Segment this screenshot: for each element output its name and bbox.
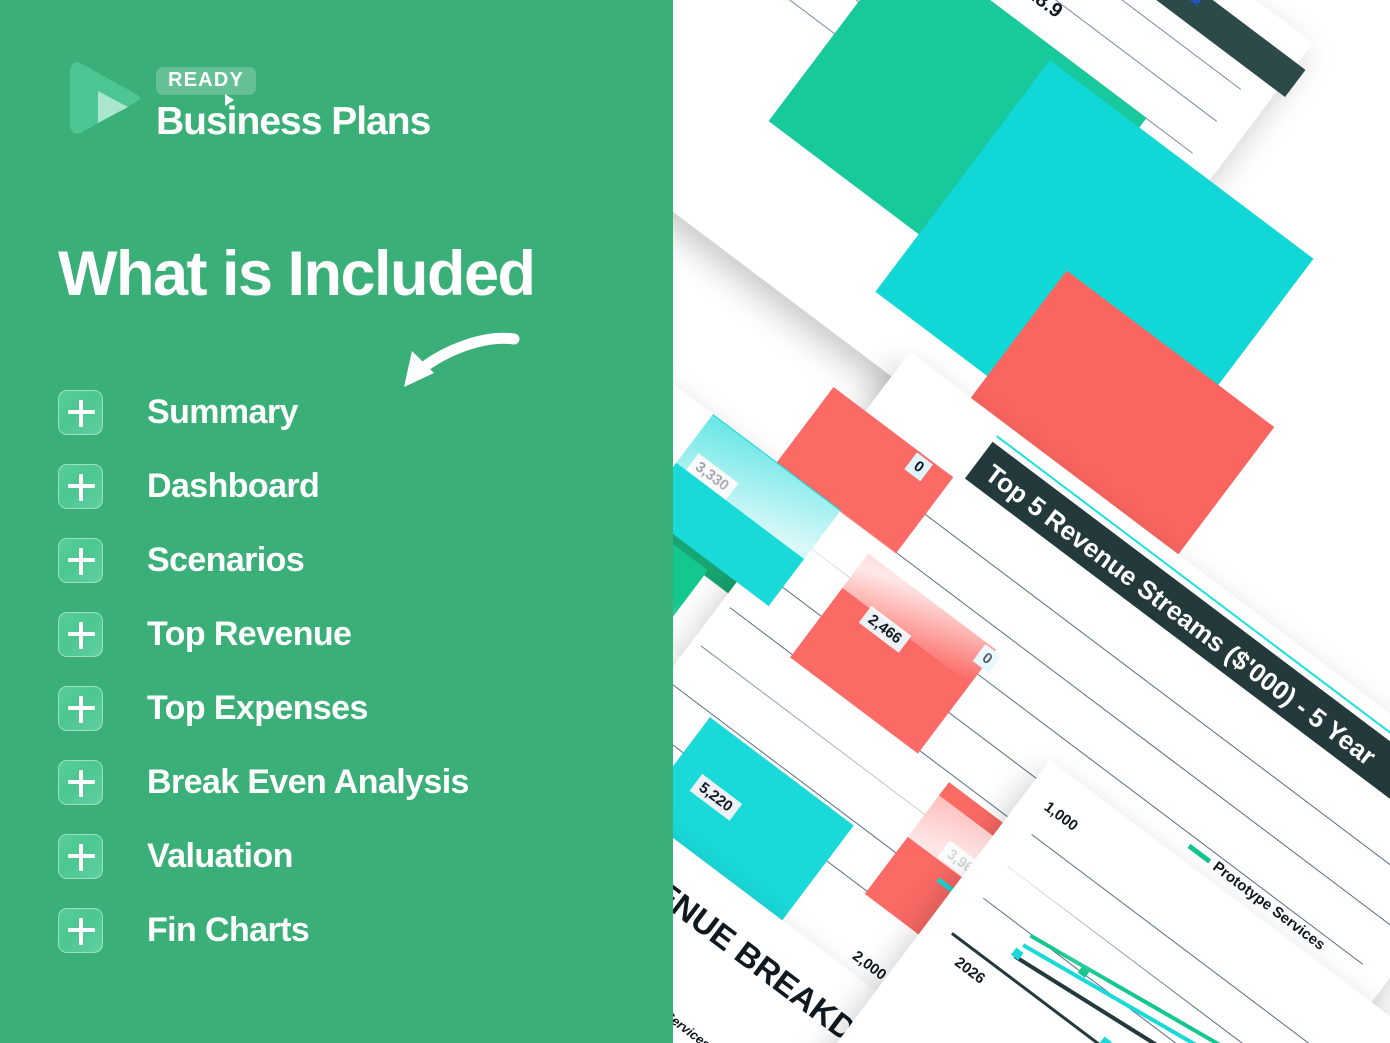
feature-label: Top Revenue [147,615,351,654]
document-title-page: Name of Contents 128.9 [620,0,1313,458]
brand-text-block: READY Business Plans [156,67,430,141]
left-green-panel: READY Business Plans What is Included Su… [0,0,673,1043]
feature-label: Fin Charts [147,911,309,950]
feature-item-valuation[interactable]: Valuation [58,830,638,882]
feature-label: Summary [147,393,298,432]
feature-item-top-revenue[interactable]: Top Revenue [58,608,638,660]
feature-item-fin-charts[interactable]: Fin Charts [58,904,638,956]
brand-name: Business Plans [156,102,430,141]
feature-item-top-expenses[interactable]: Top Expenses [58,682,638,734]
feature-label: Break Even Analysis [147,763,469,802]
feature-item-scenarios[interactable]: Scenarios [58,534,638,586]
ready-badge: READY [156,67,256,95]
feature-label: Dashboard [147,467,319,506]
line-series-dark [1014,955,1287,1043]
plus-icon [58,834,103,879]
feature-item-break-even-analysis[interactable]: Break Even Analysis [58,756,638,808]
brand-name-text: Business Plans [156,100,430,143]
plus-icon [58,686,103,731]
included-features-list: Summary Dashboard Scenarios Top Revenue … [58,386,638,978]
data-point-marker [1099,1037,1112,1043]
feature-label: Scenarios [147,541,304,580]
axis-tick: 1,000 [1041,798,1081,834]
plus-icon [58,390,103,435]
feature-item-summary[interactable]: Summary [58,386,638,438]
plus-icon [58,538,103,583]
plus-icon [58,464,103,509]
feature-label: Top Expenses [147,689,368,728]
plus-icon [58,612,103,657]
plus-icon [58,908,103,953]
play-triangle-icon [62,57,144,139]
play-accent-icon [225,94,234,106]
plus-icon [58,760,103,805]
feature-label: Valuation [147,837,293,876]
page-title: What is Included [58,243,535,306]
artwork-collage: Name of Contents 128.9 31 2028 2029 2030… [620,0,1390,1043]
chart-value-label: 128.9 [1013,0,1067,23]
feature-item-dashboard[interactable]: Dashboard [58,460,638,512]
